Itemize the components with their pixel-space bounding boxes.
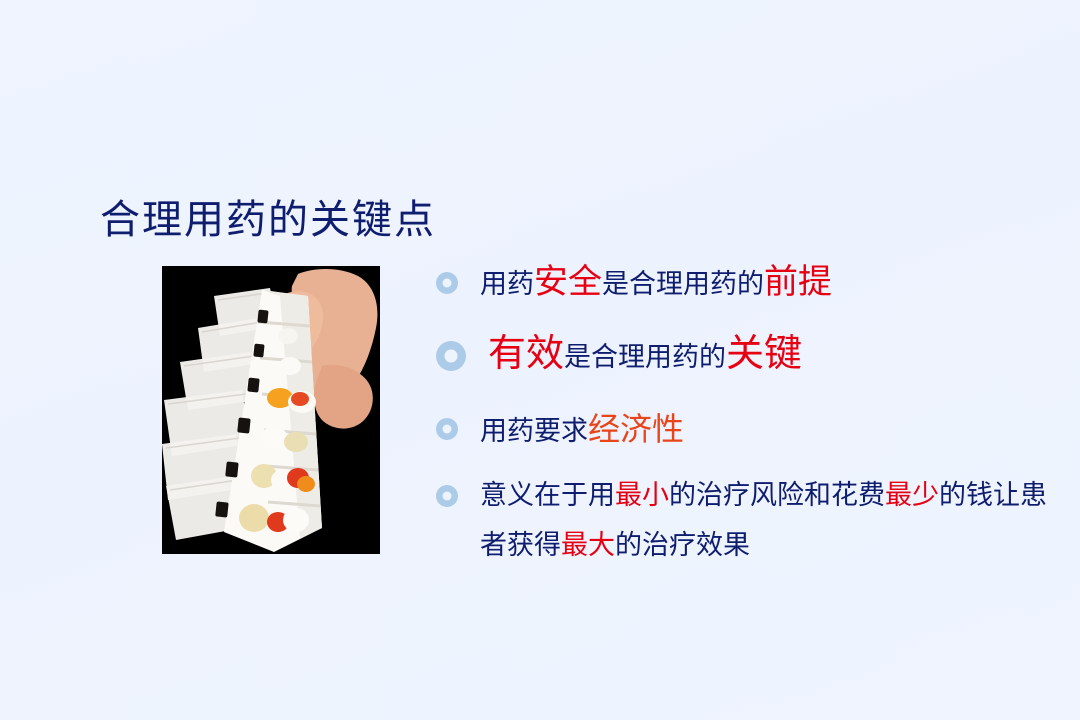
ring-bullet-icon xyxy=(436,418,458,440)
text-segment-emphasis: 最小 xyxy=(615,480,669,511)
list-item-text: 用药要求经济性 xyxy=(480,404,1056,457)
text-segment-emphasis: 关键 xyxy=(726,331,802,375)
text-segment: 意义在于用 xyxy=(480,480,615,511)
list-item-text: 用药安全是合理用药的前提 xyxy=(480,258,1056,309)
text-segment-emphasis: 有效 xyxy=(488,331,564,375)
text-segment-emphasis: 最少 xyxy=(885,480,939,511)
text-segment-emphasis: 安全 xyxy=(534,262,602,302)
key-points-list: 用药安全是合理用药的前提 有效是合理用药的关键 用药要求经济性 意义在于用最小的… xyxy=(436,258,1056,571)
list-item: 意义在于用最小的治疗风险和花费最少的钱让患者获得最大的治疗效果 xyxy=(436,471,1056,571)
text-segment: 是合理用药的 xyxy=(564,342,726,373)
slide-canvas: 合理用药的关键点 xyxy=(0,0,1080,720)
text-segment-emphasis: 前提 xyxy=(764,262,832,302)
ring-bullet-icon xyxy=(436,341,466,371)
list-item-text: 意义在于用最小的治疗风险和花费最少的钱让患者获得最大的治疗效果 xyxy=(480,471,1056,571)
pill-organizer-illustration xyxy=(162,266,380,554)
pill-organizer-photo xyxy=(162,266,380,554)
ring-bullet-icon xyxy=(436,272,458,294)
text-segment: 用药 xyxy=(480,269,534,300)
text-segment-emphasis: 最大 xyxy=(561,530,615,561)
ring-bullet-icon xyxy=(436,485,458,507)
text-segment-emphasis: 经济性 xyxy=(588,410,684,448)
text-segment: 是合理用药的 xyxy=(602,269,764,300)
text-segment: 的治疗风险和花费 xyxy=(669,480,885,511)
text-segment: 用药要求 xyxy=(480,416,588,447)
list-item: 用药安全是合理用药的前提 xyxy=(436,258,1056,309)
list-item-text: 有效是合理用药的关键 xyxy=(488,327,1056,384)
list-item: 有效是合理用药的关键 xyxy=(436,327,1056,384)
list-item: 用药要求经济性 xyxy=(436,404,1056,457)
page-title: 合理用药的关键点 xyxy=(100,197,436,243)
text-segment: 的治疗效果 xyxy=(615,530,750,561)
